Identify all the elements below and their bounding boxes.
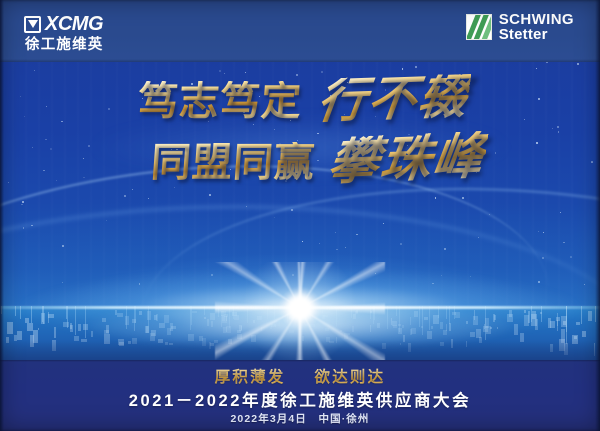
event-title: 2021－2022年度徐工施维英供应商大会	[0, 387, 600, 411]
headline-line-2: 同盟同赢 攀珠峰	[0, 134, 600, 184]
headline-line2-script: 攀珠峰	[325, 131, 489, 188]
headline-slogan: 笃志笃定 行不辍 同盟同赢 攀珠峰	[0, 76, 600, 184]
schwing-green-stripes-icon	[466, 14, 492, 40]
conference-banner: XCMG 徐工施维英 SCHWING Stetter 笃志笃定 行不辍 同盟同赢…	[0, 0, 600, 431]
footer-slogan-part2: 欲达则达	[315, 365, 386, 387]
xcmg-logo: XCMG 徐工施维英	[24, 14, 104, 53]
horizon-starburst	[0, 262, 600, 362]
schwing-stetter-logo: SCHWING Stetter	[466, 12, 574, 43]
headline-line1-script: 行不辍	[315, 73, 472, 126]
headline-line2-block: 同盟同赢	[150, 142, 317, 184]
starburst-core	[287, 295, 313, 321]
footer-slogan: 厚积薄发 欲达则达	[0, 365, 600, 387]
schwing-wordmark: SCHWING Stetter	[499, 12, 574, 43]
headline-line1-block: 笃志笃定	[137, 81, 304, 123]
headline-line-1: 笃志笃定 行不辍	[0, 76, 600, 124]
footer-slogan-part1: 厚积薄发	[215, 365, 286, 387]
schwing-line2: Stetter	[499, 27, 574, 42]
xcmg-logo-row: XCMG	[24, 14, 103, 34]
xcmg-chinese-name: 徐工施维英	[25, 37, 104, 53]
xcmg-diamond-triangle-icon	[24, 16, 41, 33]
xcmg-wordmark: XCMG	[45, 14, 103, 34]
event-date-location: 2022年3月4日 中国·徐州	[0, 411, 600, 426]
schwing-line1: SCHWING	[499, 12, 574, 27]
